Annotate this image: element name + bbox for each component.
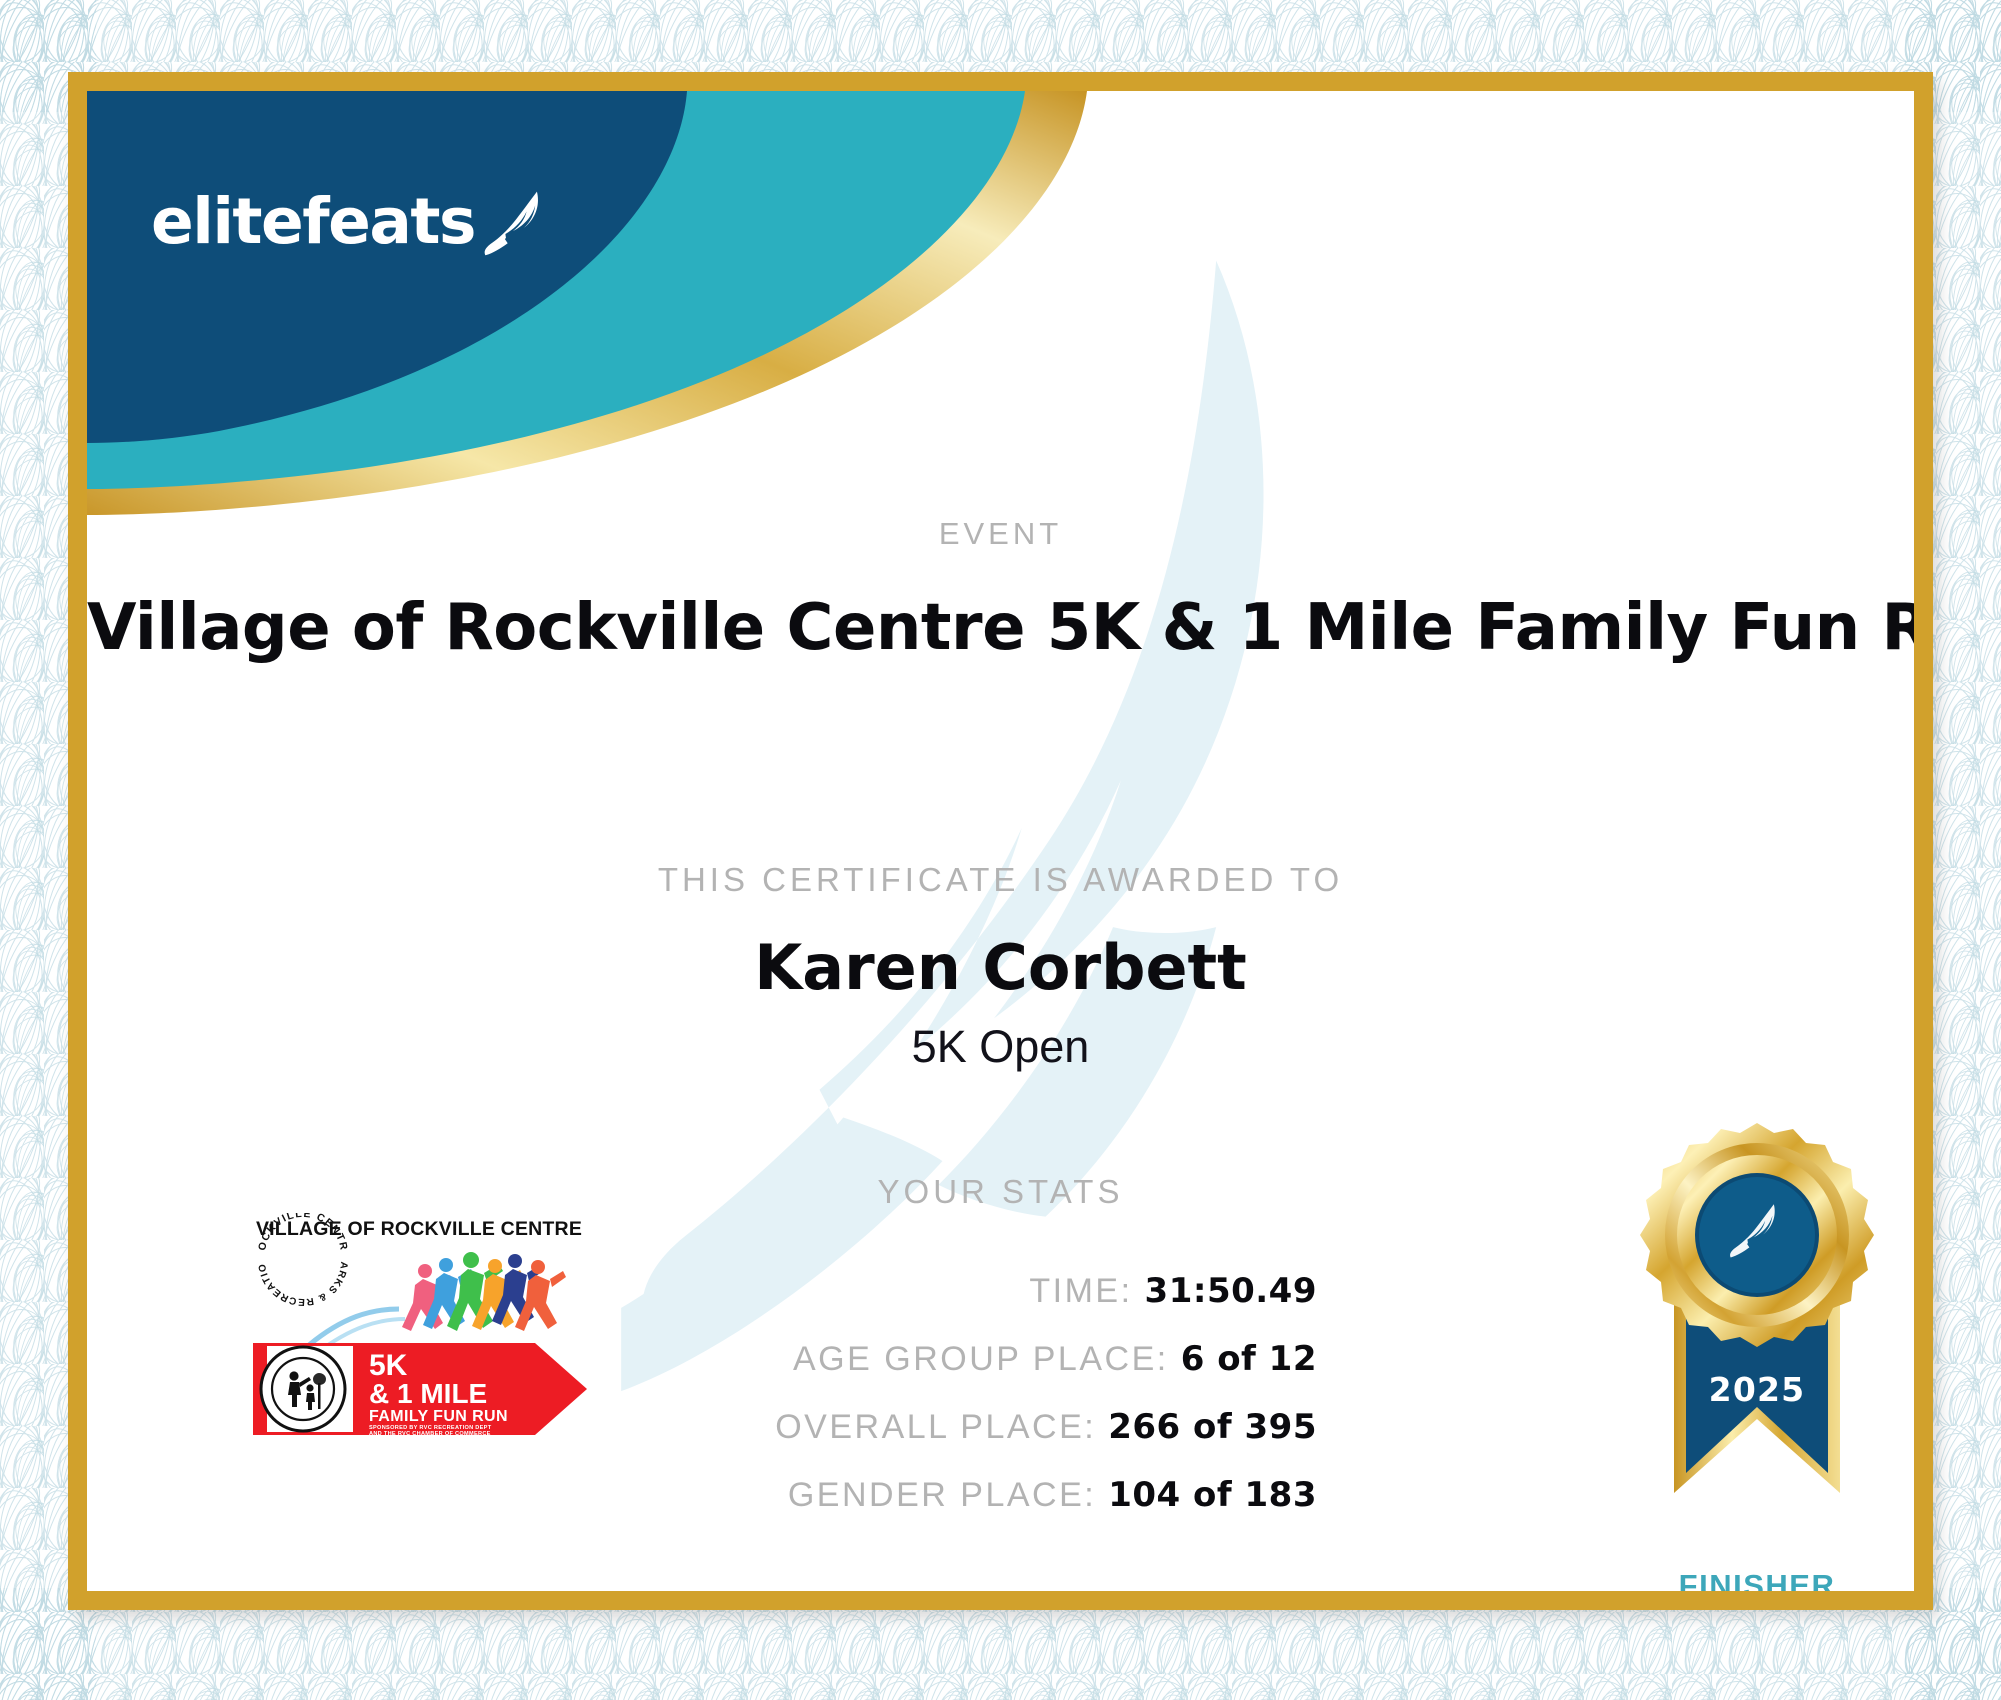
event-label: EVENT bbox=[87, 516, 1914, 552]
event-title: Village of Rockville Centre 5K & 1 Mile … bbox=[87, 591, 1914, 665]
stat-value: 31:50.49 bbox=[1145, 1271, 1317, 1311]
stat-value: 6 of 12 bbox=[1181, 1339, 1317, 1379]
stat-key: GENDER PLACE: bbox=[788, 1476, 1096, 1515]
race-logo-top-text: VILLAGE OF ROCKVILLE CENTRE bbox=[256, 1218, 582, 1240]
finisher-certificate-caption: FINISHER CERTIFICATE bbox=[1597, 1569, 1914, 1591]
medal-year: 2025 bbox=[1709, 1370, 1806, 1409]
recipient-name: Karen Corbett bbox=[87, 931, 1914, 1004]
race-event-logo: VILLAGE OF ROCKVILLE CENTRE bbox=[247, 1213, 592, 1453]
recipient-division: 5K Open bbox=[87, 1021, 1914, 1073]
finisher-caption-line-1: FINISHER bbox=[1597, 1569, 1914, 1591]
elitefeats-logo: elitefeats bbox=[151, 173, 561, 269]
awarded-to-label: THIS CERTIFICATE IS AWARDED TO bbox=[87, 861, 1914, 899]
stat-row-gender-place: GENDER PLACE: 104 of 183 bbox=[87, 1475, 1317, 1515]
winged-foot-icon bbox=[475, 183, 561, 269]
finisher-medal-badge: 2025 bbox=[1602, 1101, 1912, 1531]
race-logo-distance-2: & 1 MILE bbox=[369, 1378, 487, 1409]
race-logo-sponsor-2: AND THE RVC CHAMBER OF COMMERCE bbox=[369, 1431, 491, 1437]
stat-value: 266 of 395 bbox=[1108, 1407, 1317, 1447]
stat-key: TIME: bbox=[1029, 1272, 1132, 1311]
stat-value: 104 of 183 bbox=[1108, 1475, 1317, 1515]
stat-key: OVERALL PLACE: bbox=[775, 1408, 1096, 1447]
certificate-content: EVENT Village of Rockville Centre 5K & 1… bbox=[87, 91, 1914, 1591]
brand-wordmark: elitefeats bbox=[151, 190, 475, 253]
stat-key: AGE GROUP PLACE: bbox=[793, 1340, 1169, 1379]
certificate-card: elitefeats EVENT bbox=[68, 72, 1933, 1610]
race-logo-subtitle: FAMILY FUN RUN bbox=[369, 1408, 508, 1425]
